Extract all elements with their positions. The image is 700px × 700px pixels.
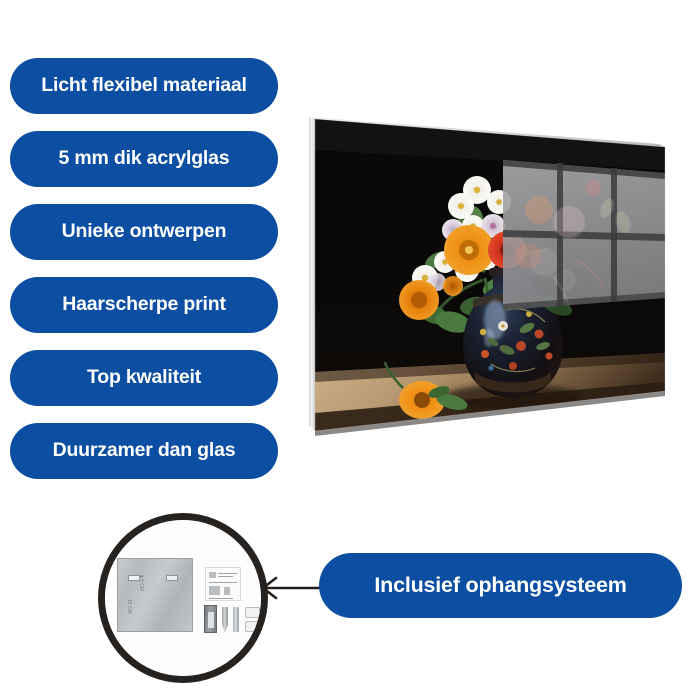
hanging-system-badge[interactable]: Inclusief ophangsysteem xyxy=(319,553,682,618)
hanging-system-badge-label: Inclusief ophangsysteem xyxy=(374,575,626,597)
spacer-pad-icon xyxy=(245,607,260,618)
feature-badge-label: Haarscherpe print xyxy=(62,295,226,315)
feature-badge-label: 5 mm dik acrylglas xyxy=(59,149,230,169)
instruction-sheet-icon xyxy=(205,567,241,601)
hanging-system-photo: ▮ 5 CM 15 CM xyxy=(105,520,261,676)
feature-badge[interactable]: Licht flexibel materiaal xyxy=(10,58,278,114)
spacer-pad-icon xyxy=(245,621,260,632)
feature-badge[interactable]: Haarscherpe print xyxy=(10,277,278,333)
window-reflection xyxy=(503,160,665,310)
feature-badge[interactable]: Unieke ontwerpen xyxy=(10,204,278,260)
feature-badge[interactable]: 5 mm dik acrylglas xyxy=(10,131,278,187)
feature-badge-label: Top kwaliteit xyxy=(87,368,201,388)
feature-badge-label: Unieke ontwerpen xyxy=(62,222,227,242)
feature-badge-label: Licht flexibel materiaal xyxy=(41,76,246,96)
wall-bracket-icon xyxy=(204,605,217,633)
mounting-plate-icon: ▮ 5 CM 15 CM xyxy=(117,558,193,632)
plate-marking: ▮ 5 CM xyxy=(138,575,144,591)
product-artwork-panel[interactable] xyxy=(307,110,675,440)
feature-badge-label: Duurzamer dan glas xyxy=(53,441,236,461)
plate-marking: 15 CM xyxy=(126,599,132,614)
plate-slot xyxy=(166,575,178,581)
wall-plug-icon xyxy=(233,607,239,632)
screw-icon xyxy=(222,607,228,633)
panel-left-edge xyxy=(309,117,315,431)
feature-badge[interactable]: Duurzamer dan glas xyxy=(10,423,278,479)
fixing-parts-group xyxy=(204,605,264,635)
feature-badge[interactable]: Top kwaliteit xyxy=(10,350,278,406)
artwork-face xyxy=(307,110,675,440)
arrow-left-icon xyxy=(263,578,326,598)
hanging-system-inset[interactable]: ▮ 5 CM 15 CM xyxy=(98,513,268,683)
feature-badge-list: Licht flexibel materiaal 5 mm dik acrylg… xyxy=(10,58,278,496)
